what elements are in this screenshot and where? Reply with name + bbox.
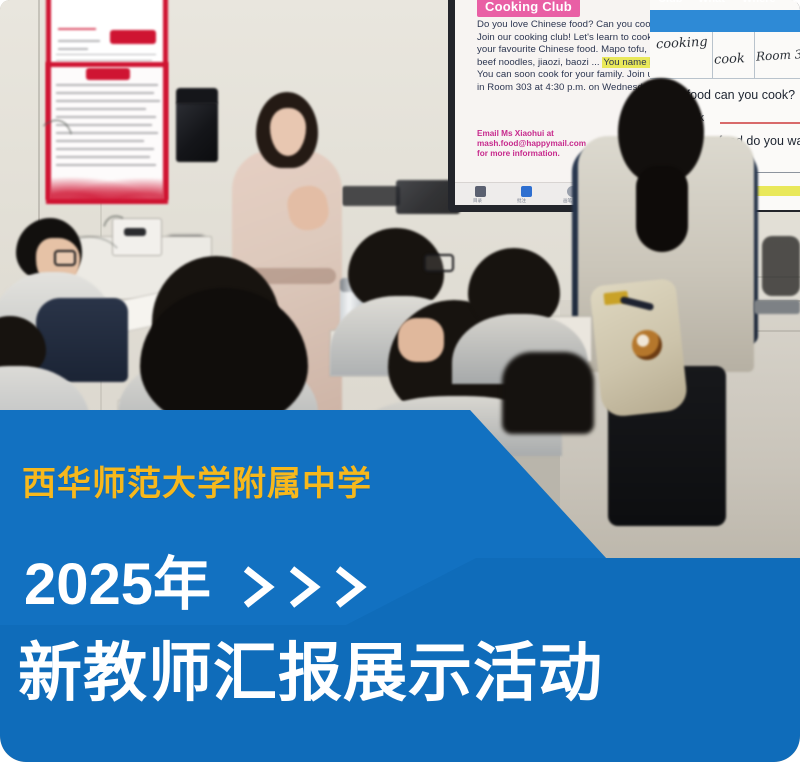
classroom-activity-poster: Cooking Club Do you love Chinese food? C…: [0, 0, 800, 762]
banner-text-layer: 西华师范大学附属中学 2025年 新教师汇报展示活动: [0, 0, 800, 762]
year-label: 2025年: [24, 554, 211, 616]
chevron-right-icon: [241, 565, 275, 609]
chevron-right-icon: [287, 565, 321, 609]
year-row: 2025年: [24, 554, 367, 616]
page-title: 新教师汇报展示活动: [18, 634, 603, 712]
chevron-group: [241, 565, 367, 609]
chevron-right-icon: [333, 565, 367, 609]
school-name: 西华师范大学附属中学: [22, 462, 372, 506]
